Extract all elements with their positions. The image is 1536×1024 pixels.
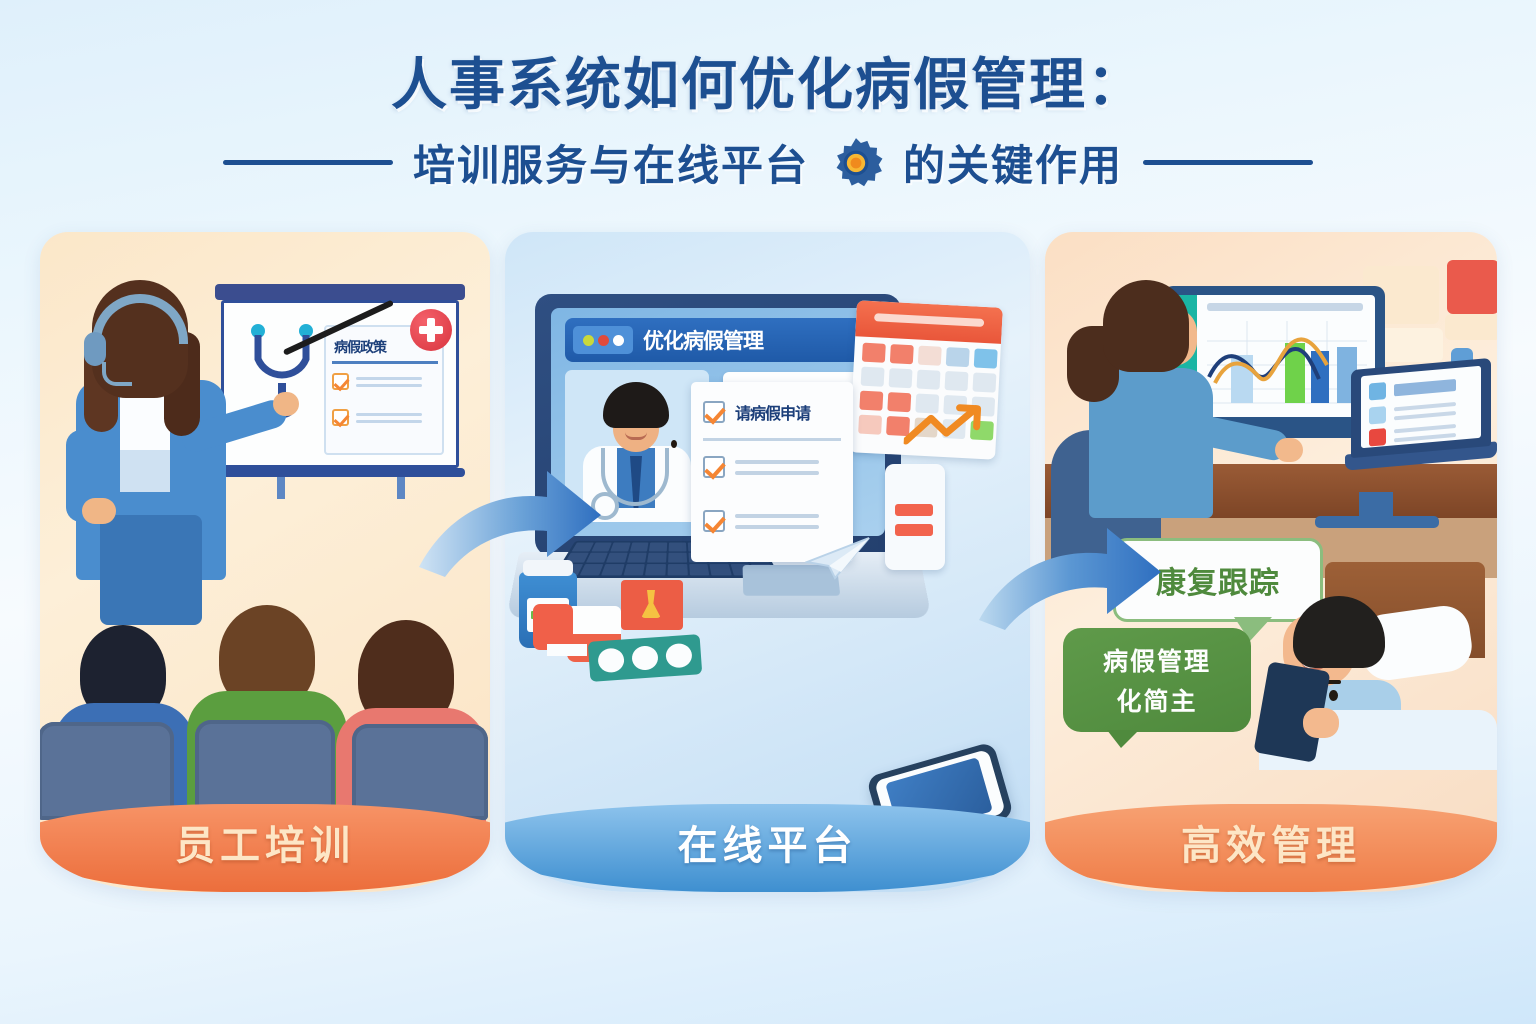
doc-lines [356,413,422,423]
first-aid-box [621,580,683,630]
green-callout-box: 病假管理 化简主 [1063,628,1251,732]
checkbox-checked-icon [332,373,349,390]
checklist-first-item-label: 请病假申请 [735,400,810,424]
rule-right [1143,160,1313,165]
page-title: 人事系统如何优化病假管理： [0,40,1536,121]
doctor-hair [603,382,669,428]
trainer-shirt-shadow [120,450,170,492]
caption-band-employee-training: 员工培训 [40,804,490,892]
doc-checklist-row [332,373,422,390]
checkbox-checked-icon[interactable] [703,401,725,423]
checkbox-checked-icon[interactable] [703,456,725,478]
shelf-box-cream [1445,314,1497,340]
doc-underline [332,361,438,364]
shelf-box-red [1447,260,1497,314]
doc-checklist-row [332,409,422,426]
board-leg [397,477,405,499]
browser-title-bar[interactable]: 优化病假管理 [565,318,865,362]
red-cross-badge-icon [410,309,452,351]
checkbox-checked-icon[interactable] [703,510,725,532]
calendar-widget[interactable] [849,300,1003,459]
laptop-checklist-row[interactable] [1369,400,1456,425]
management-office-scene: 康复跟踪 病假管理 化简主 [1045,232,1497,892]
trainer-right-hand [273,392,299,416]
admin-hand [1275,438,1303,462]
upward-trend-arrow-icon [904,401,984,449]
subtitle-left-text: 培训服务与在线平台 [413,132,809,193]
pill-jar-red [533,604,573,650]
headset-earcup-icon [84,332,106,366]
subtitle-row: 培训服务与在线平台 的关键作用 [0,132,1536,193]
patient-hand [1303,708,1339,738]
panel-efficient-management[interactable]: 康复跟踪 病假管理 化简主 [1045,232,1497,892]
checklist-divider [703,438,841,441]
laptop-screen [1361,366,1481,448]
paper-plane-icon [805,532,875,580]
checkbox-checked-icon [332,409,349,426]
board-top-bar [215,284,465,300]
attendee [50,625,200,820]
window-control-dots[interactable] [573,326,633,354]
medicine-items-group [519,572,719,682]
online-platform-scene: 优化病假管理 [505,232,1030,892]
browser-window-title: 优化病假管理 [643,325,763,355]
caption-band-online-platform: 在线平台 [505,804,1030,892]
board-base [215,468,465,477]
panel-online-platform[interactable]: 优化病假管理 [505,232,1030,892]
doc-lines [356,377,422,387]
trainer-left-hand [82,498,116,524]
audience-group [40,570,490,820]
admin-hair [1103,280,1189,372]
caption-label: 在线平台 [678,813,858,871]
checklist-row-first[interactable]: 请病假申请 [703,400,810,424]
gear-icon [829,136,883,190]
pill-blister-pack [588,634,703,682]
rule-left [223,160,393,165]
caption-band-efficient-management: 高效管理 [1045,804,1497,892]
panel-employee-training[interactable]: 病假政策 [40,232,490,892]
caption-label: 高效管理 [1181,813,1361,871]
board-leg [277,477,285,499]
laptop-checklist-row[interactable] [1369,422,1456,447]
checklist-row[interactable] [703,510,819,532]
policy-doc-title: 病假政策 [334,337,386,357]
attendee [185,605,355,820]
chair [40,722,174,820]
smartphone-upright[interactable] [885,464,945,570]
laptop-checklist-row[interactable] [1369,376,1456,401]
green-box-line-2: 化简主 [1116,682,1197,718]
subtitle-right-text: 的关键作用 [903,132,1123,193]
header: 人事系统如何优化病假管理： 培训服务与在线平台 的关键作用 [0,0,1536,215]
monitor-foot [1315,516,1439,528]
attendee [338,620,488,820]
headset-mic-icon [102,362,132,386]
checklist-row[interactable] [703,456,819,478]
laptop-lid [1351,358,1491,458]
green-box-line-1: 病假管理 [1103,642,1211,678]
doctor-video-tile[interactable] [565,370,709,522]
patient-in-bed [1259,562,1497,762]
presentation-board: 病假政策 [215,284,465,489]
training-room-scene: 病假政策 [40,232,490,892]
calendar-header [855,300,1003,344]
hr-admin-at-desk [1061,280,1241,530]
panels-row: 病假政策 [0,232,1536,892]
trainer-with-headset [68,280,248,610]
caption-label: 员工培训 [175,813,355,871]
management-laptop[interactable] [1345,364,1495,474]
